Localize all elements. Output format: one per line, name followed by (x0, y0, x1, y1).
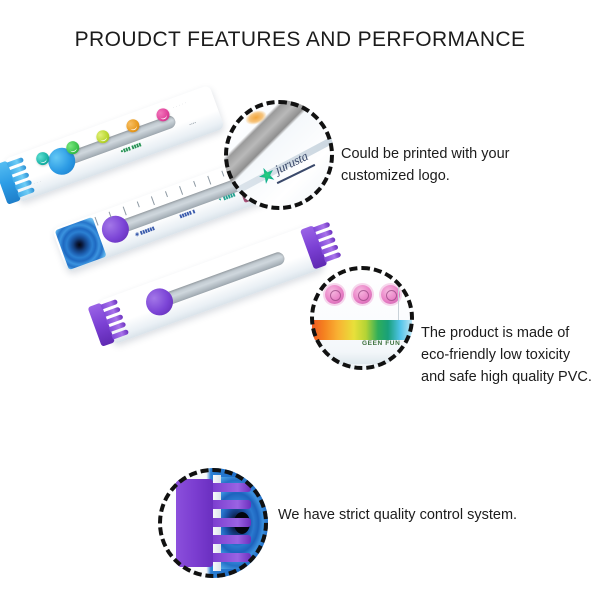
device-base-edge (310, 352, 414, 364)
callout-text-quality-control: We have strict quality control system. (278, 504, 548, 526)
page-title: PROUDCT FEATURES AND PERFORMANCE (0, 28, 600, 52)
tiny-print-right: ▪▪▪▪ (188, 120, 197, 127)
callout-text-custom-logo: Could be printed with your customized lo… (341, 143, 541, 187)
callout-text-line: The product is made of (421, 322, 600, 344)
strip-label: GEEN FUN (362, 340, 400, 347)
product-feature-image: PROUDCT FEATURES AND PERFORMANCE · · · ·… (0, 0, 600, 600)
callout-text-line: eco-friendly low toxicity (421, 344, 600, 366)
callout-circle-custom-logo: jurusta (224, 100, 334, 210)
callout-circle-eco-material: GEEN FUN (310, 266, 414, 370)
callout-text-line: We have strict quality control system. (278, 504, 548, 526)
callout-text-line: and safe high quality PVC. (421, 366, 600, 388)
callout-text-line: Could be printed with your (341, 143, 541, 165)
tiny-print-scale-top: · · · · · (172, 100, 188, 110)
callout-circle-quality-control (158, 468, 268, 578)
pink-button-icon-2 (353, 285, 372, 304)
comb-closeup (176, 479, 213, 567)
tiny-print-left: · · · · (29, 178, 41, 187)
logo-closeup-art (224, 100, 334, 210)
comb-head-purple-bottom-left (88, 303, 116, 347)
comb-head-purple-bottom-right (300, 225, 328, 269)
rainbow-gradient-strip (312, 320, 412, 340)
pink-button-icon-3 (381, 285, 400, 304)
pink-button-icon-1 (325, 285, 344, 304)
callout-text-line: customized logo. (341, 165, 541, 187)
comb-head-blue (0, 161, 21, 205)
callout-text-eco-material: The product is made of eco-friendly low … (421, 322, 600, 388)
